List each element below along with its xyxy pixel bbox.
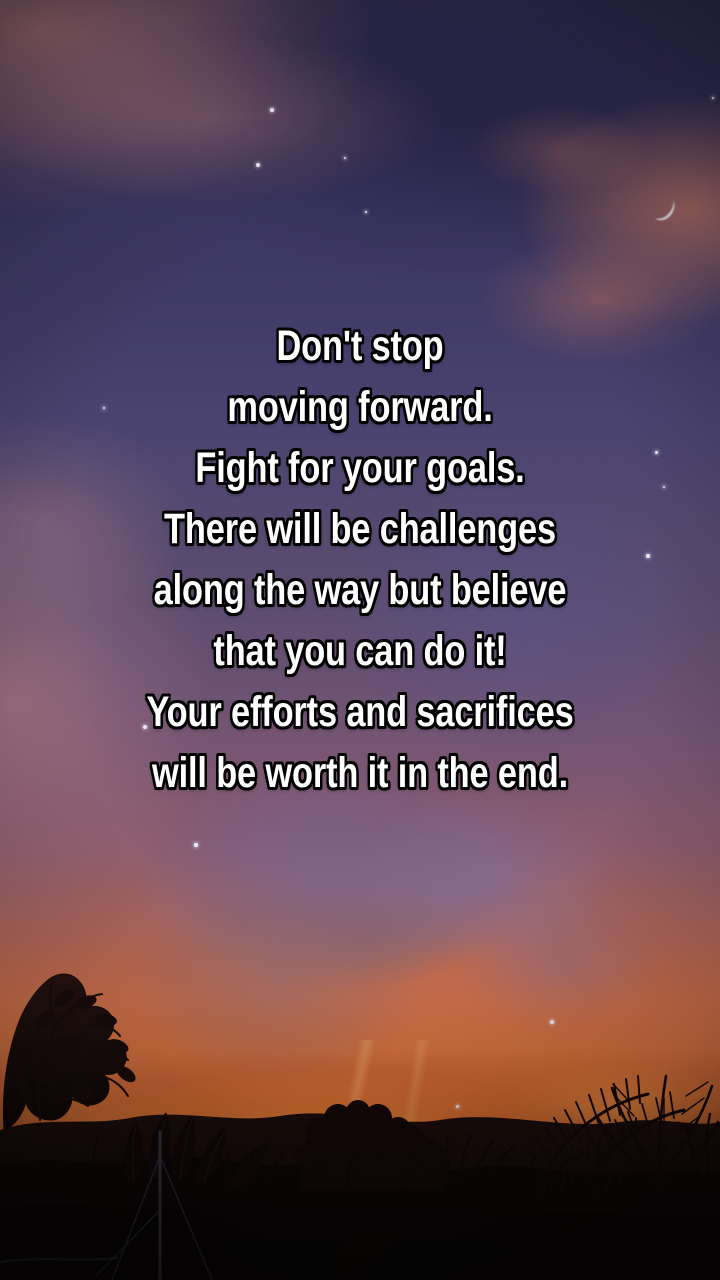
star-10	[194, 843, 197, 846]
star-1	[270, 108, 273, 111]
star-3	[344, 157, 347, 160]
quote-line-3: Fight for your goals.	[72, 438, 648, 499]
quote-line-2: moving forward.	[72, 377, 648, 438]
star-5	[712, 97, 715, 100]
wallpaper-canvas: Don't stop moving forward. Fight for you…	[0, 0, 720, 1280]
star-4	[365, 211, 367, 213]
crescent-moon-icon	[648, 196, 682, 230]
star-2	[256, 163, 260, 167]
quote-line-4: There will be challenges	[72, 499, 648, 560]
quote-line-8: will be worth it in the end.	[72, 743, 648, 804]
quote-line-1: Don't stop	[72, 316, 648, 377]
quote-line-5: along the way but believe	[72, 560, 648, 621]
foliage-silhouette	[0, 880, 720, 1280]
quote-line-7: Your efforts and sacrifices	[72, 682, 648, 743]
quote-text-block: Don't stop moving forward. Fight for you…	[0, 316, 720, 804]
quote-line-6: that you can do it!	[72, 621, 648, 682]
